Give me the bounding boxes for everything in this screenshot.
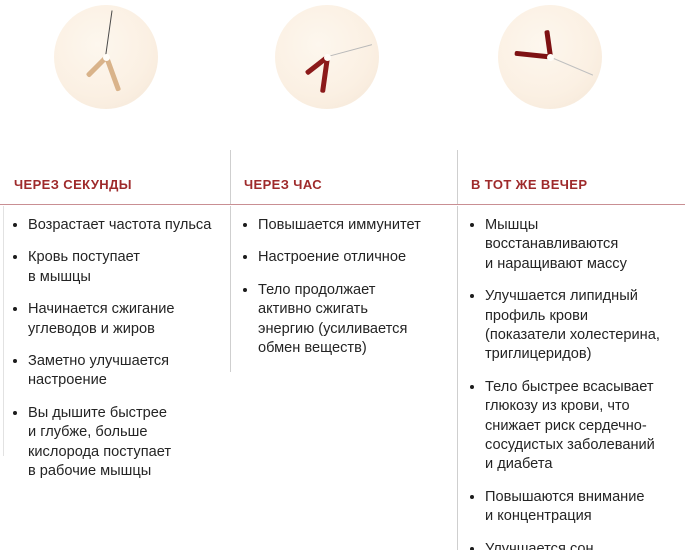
column-header-seconds: ЧЕРЕЗ СЕКУНДЫ	[14, 177, 132, 192]
column-header-row: ЧЕРЕЗ СЕКУНДЫ ЧЕРЕЗ ЧАС В ТОТ ЖЕ ВЕЧЕР	[0, 165, 685, 204]
clock-hub-seconds	[103, 54, 110, 61]
list-item: Заметно улучшаетсянастроение	[10, 352, 222, 391]
list-item: Мышцывосстанавливаютсяи наращивают массу	[467, 216, 679, 274]
bullet-list-evening: Мышцывосстанавливаютсяи наращивают массу…	[467, 216, 679, 550]
left-edge-divider	[3, 206, 4, 456]
clock-cell-evening	[458, 0, 683, 165]
column-header-evening: В ТОТ ЖЕ ВЕЧЕР	[471, 177, 587, 192]
list-item: Тело продолжаетактивно сжигатьэнергию (у…	[240, 281, 450, 359]
clock-face-evening	[498, 5, 602, 109]
list-item: Улучшается сон	[467, 540, 679, 550]
clock-hub-hour	[324, 54, 331, 61]
list-item: Повышаются вниманиеи концентрация	[467, 488, 679, 527]
list-item: Настроение отличное	[240, 248, 450, 267]
list-item: Тело быстрее всасываетглюкозу из крови, …	[467, 378, 679, 475]
benefit-list-seconds: Возрастает частота пульсаКровь поступает…	[10, 216, 222, 494]
column-divider-2-bottom	[457, 206, 458, 550]
column-divider-1-bottom	[230, 206, 231, 372]
second-hand-evening	[550, 56, 594, 76]
list-item: Возрастает частота пульса	[10, 216, 222, 235]
clock-illustration-row	[0, 0, 685, 165]
column-header-hour: ЧЕРЕЗ ЧАС	[244, 177, 322, 192]
clock-face-hour	[275, 5, 379, 109]
header-underline-rule	[0, 204, 685, 205]
clock-cell-hour	[231, 0, 456, 165]
benefit-list-evening: Мышцывосстанавливаютсяи наращивают массу…	[467, 216, 679, 550]
second-hand-hour	[327, 44, 373, 58]
second-hand-seconds	[105, 10, 113, 57]
list-item: Улучшается липидныйпрофиль крови(показат…	[467, 287, 679, 365]
clock-face-seconds	[54, 5, 158, 109]
clock-cell-seconds	[0, 0, 225, 165]
list-item: Вы дышите быстрееи глубже, большекислоро…	[10, 404, 222, 482]
column-divider-1-top	[230, 150, 231, 204]
infographic-page: ЧЕРЕЗ СЕКУНДЫ ЧЕРЕЗ ЧАС В ТОТ ЖЕ ВЕЧЕР В…	[0, 0, 685, 550]
benefit-list-hour: Повышается иммунитетНастроение отличноеТ…	[240, 216, 450, 371]
list-item: Начинается сжиганиеуглеводов и жиров	[10, 300, 222, 339]
minute-hand-evening	[514, 51, 550, 60]
list-item: Кровь поступаетв мышцы	[10, 248, 222, 287]
column-divider-2-top	[457, 150, 458, 204]
minute-hand-seconds	[104, 56, 121, 92]
bullet-list-hour: Повышается иммунитетНастроение отличноеТ…	[240, 216, 450, 358]
bullet-list-seconds: Возрастает частота пульсаКровь поступает…	[10, 216, 222, 481]
list-item: Повышается иммунитет	[240, 216, 450, 235]
clock-hub-evening	[547, 54, 554, 61]
